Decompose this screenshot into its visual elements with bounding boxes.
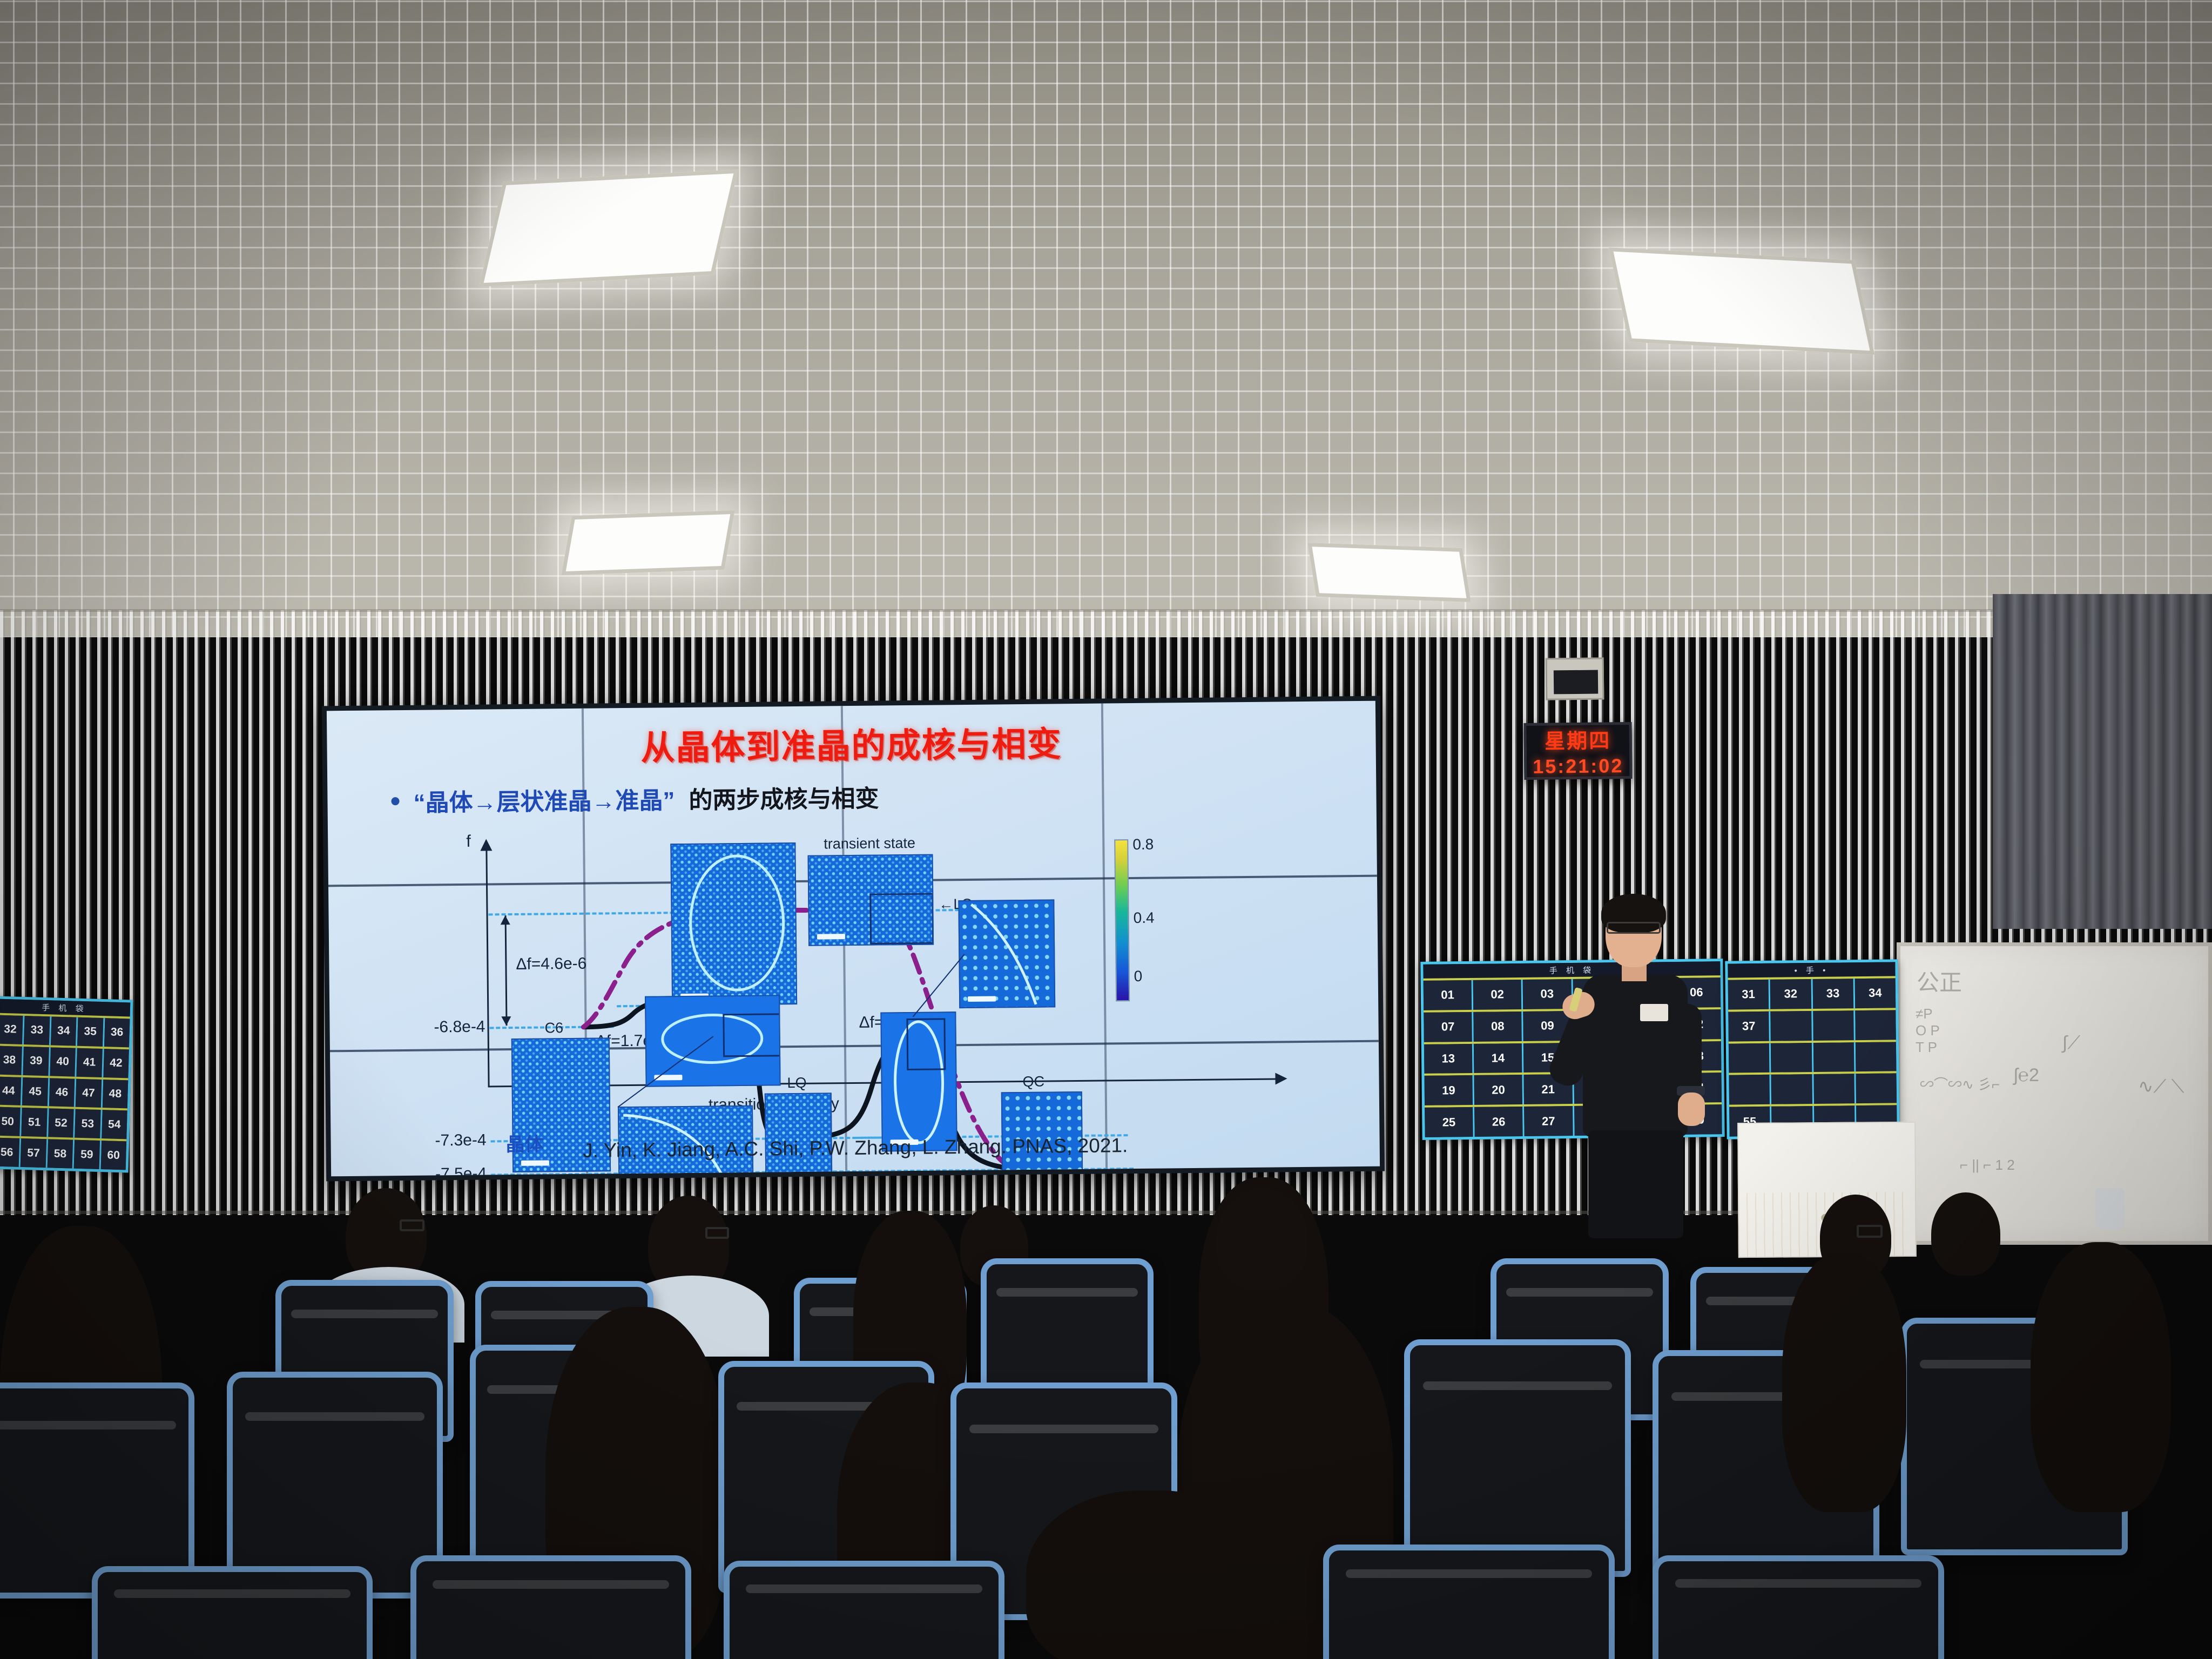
phone-pocket-board-right-2: • 手 • 31 32 33 34 37	[1725, 959, 1899, 1139]
pocket-slot[interactable]: 33	[1812, 979, 1855, 1009]
phone-board-row	[1729, 1040, 1897, 1073]
phone-board-header-2: • 手 •	[1728, 962, 1895, 977]
pocket-slot[interactable]: 26	[1474, 1107, 1525, 1137]
audience-glasses	[400, 1219, 424, 1231]
slide-citation: J. Yin, K. Jiang, A.C. Shi, P.W. Zhang, …	[331, 1132, 1380, 1165]
colorbar-tick: 0.8	[1132, 836, 1154, 853]
presenter	[1558, 898, 1709, 1233]
micrograph-qc	[1001, 1091, 1083, 1176]
zoom-box	[906, 1018, 946, 1070]
pocket-slot[interactable]	[1856, 1074, 1897, 1104]
pocket-slot[interactable]: 46	[49, 1078, 77, 1107]
ceiling	[0, 0, 2212, 637]
micrograph-transient	[808, 854, 934, 946]
pocket-slot[interactable]	[1771, 1043, 1813, 1073]
pocket-slot[interactable]: 32	[0, 1015, 25, 1044]
lecture-seat	[724, 1561, 1004, 1659]
pocket-slot[interactable]: 57	[21, 1138, 48, 1168]
pocket-slot[interactable]: 47	[76, 1078, 103, 1108]
ceiling-light-1	[479, 170, 738, 287]
slide-bullet: “晶体→层状准晶→准晶” 的两步成核与相变	[391, 779, 879, 819]
phone-pocket-board-left: 手 机 袋 32 33 34 35 36 38 39 40 41 42 44 4…	[0, 996, 133, 1173]
pocket-slot[interactable]: 31	[1728, 980, 1771, 1010]
pocket-slot[interactable]: 20	[1474, 1075, 1525, 1105]
structure-label-c6: C6	[544, 1020, 563, 1036]
pocket-slot[interactable]: 59	[74, 1140, 102, 1169]
pocket-slot[interactable]	[1813, 1042, 1856, 1073]
phone-board-row: 38 39 40 41 42	[0, 1043, 129, 1078]
window-curtain	[1993, 594, 2212, 929]
wall-control-monitor[interactable]	[1546, 657, 1604, 700]
pocket-slot[interactable]: 33	[24, 1016, 51, 1045]
ceiling-grid	[0, 0, 2212, 637]
pocket-slot[interactable]: 19	[1425, 1075, 1475, 1105]
phone-board-rows: 31 32 33 34 37	[1728, 976, 1897, 1136]
y-tick-label: -7.5e-4	[407, 1165, 487, 1177]
desk-cup	[2095, 1188, 2125, 1229]
ceiling-light-3	[561, 510, 734, 575]
pocket-slot[interactable]: 39	[23, 1047, 51, 1076]
presenter-right-hand	[1678, 1092, 1705, 1126]
pocket-slot[interactable]	[1729, 1075, 1771, 1105]
audience-long-hair	[1782, 1253, 1906, 1512]
pocket-slot[interactable]: 51	[22, 1108, 49, 1137]
pocket-slot[interactable]: 44	[0, 1076, 23, 1105]
pocket-slot[interactable]: 07	[1424, 1012, 1474, 1042]
phone-board-row: 37	[1728, 1008, 1896, 1041]
micrograph-ellipse-zoom	[645, 995, 781, 1087]
presenter-legs	[1588, 1130, 1683, 1238]
presenter-torso	[1583, 975, 1688, 1137]
pocket-slot[interactable]: 36	[104, 1018, 130, 1047]
lecture-seat	[92, 1566, 373, 1659]
micrograph-qc-growth	[958, 899, 1055, 1008]
scale-bar	[817, 934, 845, 939]
pocket-slot[interactable]: 08	[1473, 1011, 1523, 1042]
phone-board-row: 31 32 33 34	[1728, 976, 1896, 1009]
pocket-slot[interactable]: 48	[102, 1080, 128, 1109]
whiteboard-scribble: 公正	[1917, 965, 1962, 997]
micrograph-nucleus-large	[670, 842, 797, 1006]
phone-board-row: 50 51 52 53 54	[0, 1105, 127, 1139]
lecture-hall-photo: 公正 ≠PO PT P ∽⌒∽∿ 彡⌐ ʃ℮2 ∫⟋ ∿⟋ ⟍ ⌐ || ⌐ 1…	[0, 0, 2212, 1659]
micrograph-lq-left	[765, 1092, 833, 1176]
colorbar-tick: 0	[1134, 968, 1143, 985]
lecture-seat	[1653, 1555, 1944, 1659]
presenter-glasses	[1607, 922, 1661, 934]
pocket-slot[interactable]: 58	[47, 1139, 75, 1169]
audience-long-hair	[1026, 1491, 1274, 1659]
lecture-seat	[1323, 1545, 1615, 1659]
slide-title: 从晶体到准晶的成核与相变	[327, 714, 1376, 773]
pocket-slot[interactable]: 53	[75, 1109, 102, 1138]
pocket-slot[interactable]: 40	[50, 1047, 77, 1076]
audience-head	[1931, 1192, 2000, 1276]
pocket-slot[interactable]: 34	[51, 1016, 78, 1046]
pocket-slot[interactable]	[1813, 1074, 1856, 1104]
whiteboard-scribble: ∽⌒∽∿ 彡⌐	[1920, 1074, 2000, 1094]
phone-board-row: 56 57 58 59 60	[0, 1136, 126, 1170]
zoom-box	[723, 1013, 780, 1057]
structure-label-lq: LQ	[787, 1075, 806, 1091]
pocket-slot[interactable]	[1771, 1011, 1813, 1041]
energy-landscape-chart: f transition pathway -6.8e-4 -7.3e-4 -7.…	[403, 829, 1360, 1126]
audience-long-hair	[2031, 1242, 2171, 1512]
pocket-slot[interactable]	[1729, 1043, 1771, 1073]
phone-board-row	[1729, 1071, 1897, 1105]
pocket-slot[interactable]: 52	[48, 1109, 76, 1138]
pocket-slot[interactable]: 01	[1424, 980, 1474, 1010]
bullet-text-blue: “晶体→层状准晶→准晶”	[413, 781, 675, 818]
structure-label-transient: transient state	[824, 835, 915, 853]
pocket-slot[interactable]	[1771, 1074, 1814, 1104]
pocket-slot[interactable]: 25	[1425, 1107, 1475, 1137]
audience-head	[1216, 1188, 1308, 1291]
micrograph-lq-nucleus	[880, 1011, 957, 1151]
pocket-slot[interactable]: 14	[1474, 1043, 1524, 1074]
structure-label-qc: QC	[1022, 1074, 1044, 1090]
pocket-slot[interactable]: 50	[0, 1107, 22, 1136]
whiteboard-scribble: ∿⟋ ⟍	[2138, 1076, 2184, 1097]
pocket-slot[interactable]	[1856, 1042, 1897, 1072]
pocket-slot[interactable]: 56	[0, 1138, 22, 1167]
pocket-slot[interactable]: 02	[1473, 980, 1523, 1010]
pocket-slot[interactable]: 13	[1424, 1044, 1474, 1074]
digital-clock: 星期四 15:21:02	[1523, 722, 1632, 780]
whiteboard-scribble: ∫⟋	[2062, 1033, 2080, 1054]
whiteboard-scribble: ʃ℮2	[2014, 1065, 2039, 1086]
qc-front-outline	[959, 900, 1054, 1007]
pocket-slot[interactable]: 34	[1854, 978, 1896, 1008]
pocket-slot[interactable]: 45	[22, 1077, 50, 1107]
pocket-slot[interactable]: 35	[77, 1017, 105, 1047]
phone-board-row: 44 45 46 47 48	[0, 1074, 128, 1109]
pocket-slot[interactable]: 54	[102, 1110, 127, 1139]
pocket-slot[interactable]: 42	[103, 1049, 129, 1078]
pocket-slot[interactable]: 38	[0, 1046, 24, 1075]
lq-zoom-box	[869, 893, 934, 945]
colorbar-tick: 0.4	[1134, 909, 1155, 927]
audience-glasses	[1857, 1225, 1883, 1238]
nucleus-outline	[671, 844, 796, 1004]
phone-board-row: 32 33 34 35 36	[0, 1013, 130, 1048]
lecture-seat	[1404, 1339, 1631, 1577]
ceiling-light-2	[1609, 247, 1874, 355]
pocket-slot[interactable]: 60	[100, 1141, 126, 1170]
pocket-slot[interactable]	[1813, 1010, 1856, 1041]
audience-glasses	[705, 1227, 729, 1239]
bullet-text-black: 的两步成核与相变	[689, 779, 879, 815]
whiteboard: 公正 ≠PO PT P ∽⌒∽∿ 彡⌐ ʃ℮2 ∫⟋ ∿⟋ ⟍ ⌐ || ⌐ 1…	[1897, 942, 2212, 1245]
pocket-slot[interactable]: 37	[1728, 1011, 1771, 1042]
lecture-seat	[227, 1372, 443, 1599]
video-wall[interactable]: 从晶体到准晶的成核与相变 “晶体→层状准晶→准晶” 的两步成核与相变 f tra…	[322, 696, 1385, 1182]
pocket-slot[interactable]: 32	[1770, 979, 1813, 1009]
whiteboard-scribble: ≠PO PT P	[1916, 1006, 1940, 1056]
presentation-slide: 从晶体到准晶的成核与相变 “晶体→层状准晶→准晶” 的两步成核与相变 f tra…	[327, 701, 1380, 1177]
lecture-seat	[410, 1555, 691, 1659]
colorbar	[1114, 839, 1130, 1001]
pocket-slot[interactable]	[1855, 1010, 1896, 1040]
scale-bar	[968, 996, 996, 1001]
phone-board-rows: 32 33 34 35 36 38 39 40 41 42 44 45 46 4…	[0, 1013, 130, 1170]
shirt-logo	[1640, 1004, 1668, 1021]
clock-time: 15:21:02	[1533, 754, 1624, 778]
ceiling-light-4	[1307, 543, 1471, 602]
whiteboard-scribble: ⌐ || ⌐ 1 2	[1960, 1157, 2015, 1174]
wall-seam-top	[0, 609, 2212, 612]
clock-weekday: 星期四	[1545, 724, 1611, 754]
pocket-slot[interactable]: 41	[77, 1048, 104, 1077]
bullet-dot-icon	[391, 797, 399, 805]
